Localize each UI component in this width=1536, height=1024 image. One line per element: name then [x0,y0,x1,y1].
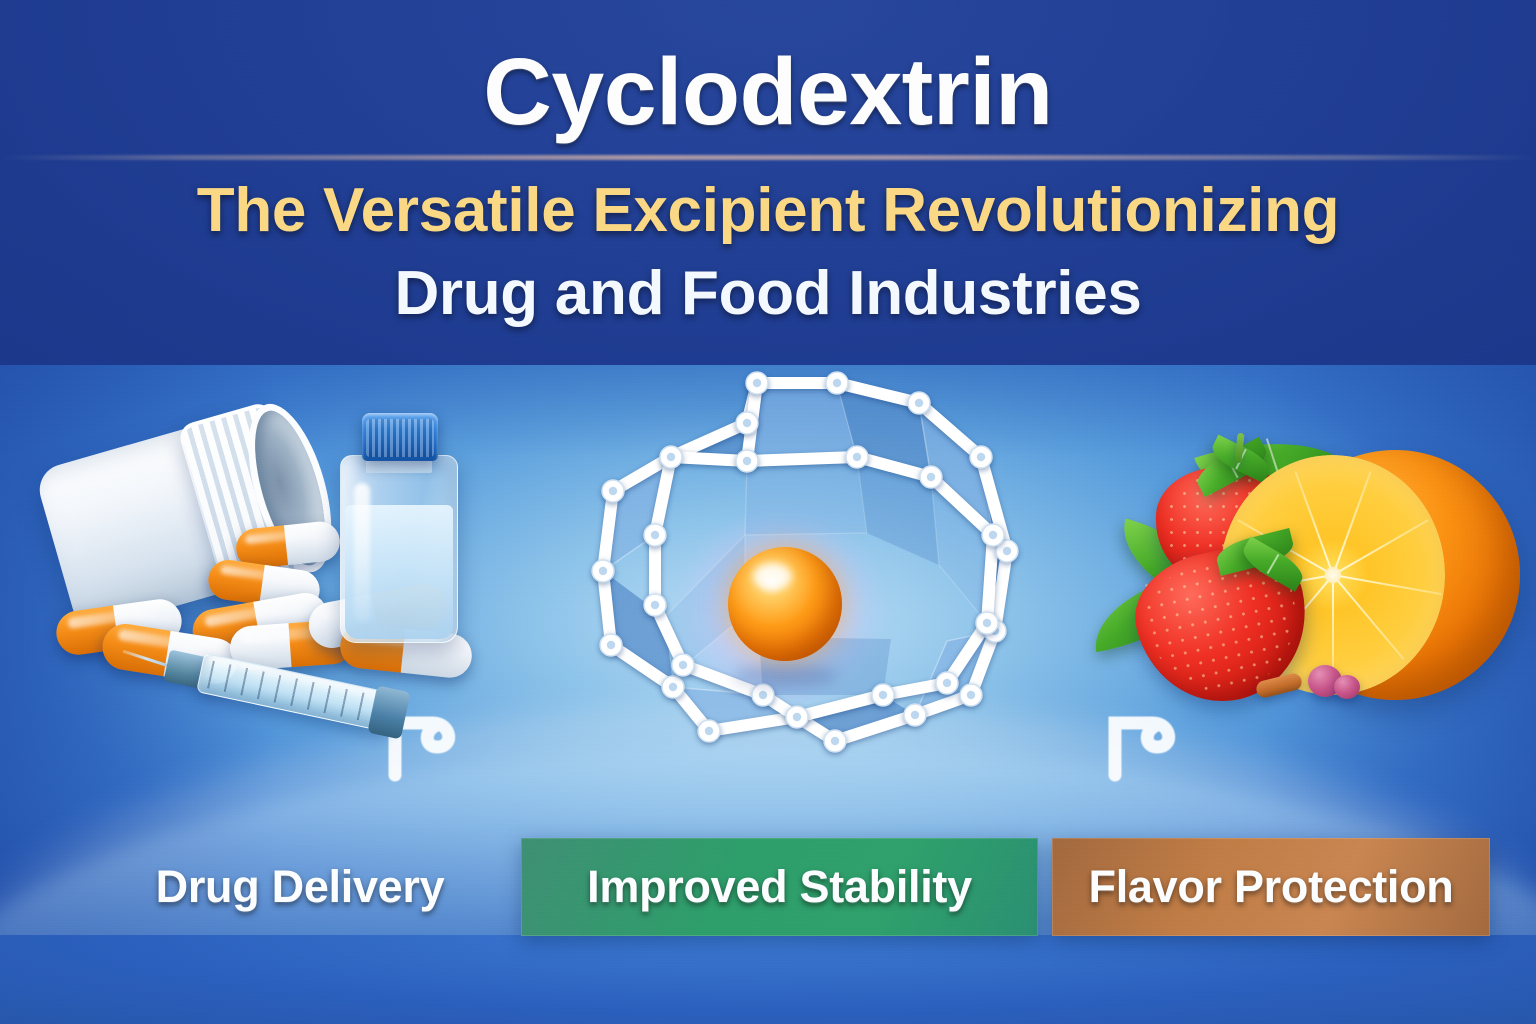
page-title: Cyclodextrin [0,38,1536,147]
glass-vial-icon [340,413,458,643]
cyclodextrin-molecule [495,365,1055,835]
title-divider [0,155,1536,160]
panel-improved-stability[interactable]: Improved Stability [521,838,1038,936]
poster-header: Cyclodextrin The Versatile Excipient Rev… [0,0,1536,365]
food-cluster [1090,425,1520,725]
panel-label-improved-stability: Improved Stability [587,861,972,913]
berry-icon [1334,675,1360,699]
poster-root: Cyclodextrin The Versatile Excipient Rev… [0,0,1536,1024]
pharmaceutical-cluster [40,395,510,815]
poster-footer [0,935,1536,1024]
feature-panels: Drug Delivery Improved Stability Flavor … [0,838,1536,936]
panel-label-drug-delivery: Drug Delivery [156,861,445,913]
guest-molecule-sphere-icon [728,547,842,661]
guest-molecule-shadow [733,665,837,687]
panel-label-flavor-protection: Flavor Protection [1089,861,1454,913]
panel-flavor-protection[interactable]: Flavor Protection [1052,838,1490,936]
subtitle-line-1: The Versatile Excipient Revolutionizing [0,175,1536,246]
panel-drug-delivery[interactable]: Drug Delivery [80,838,520,936]
subtitle-line-2: Drug and Food Industries [0,258,1536,329]
